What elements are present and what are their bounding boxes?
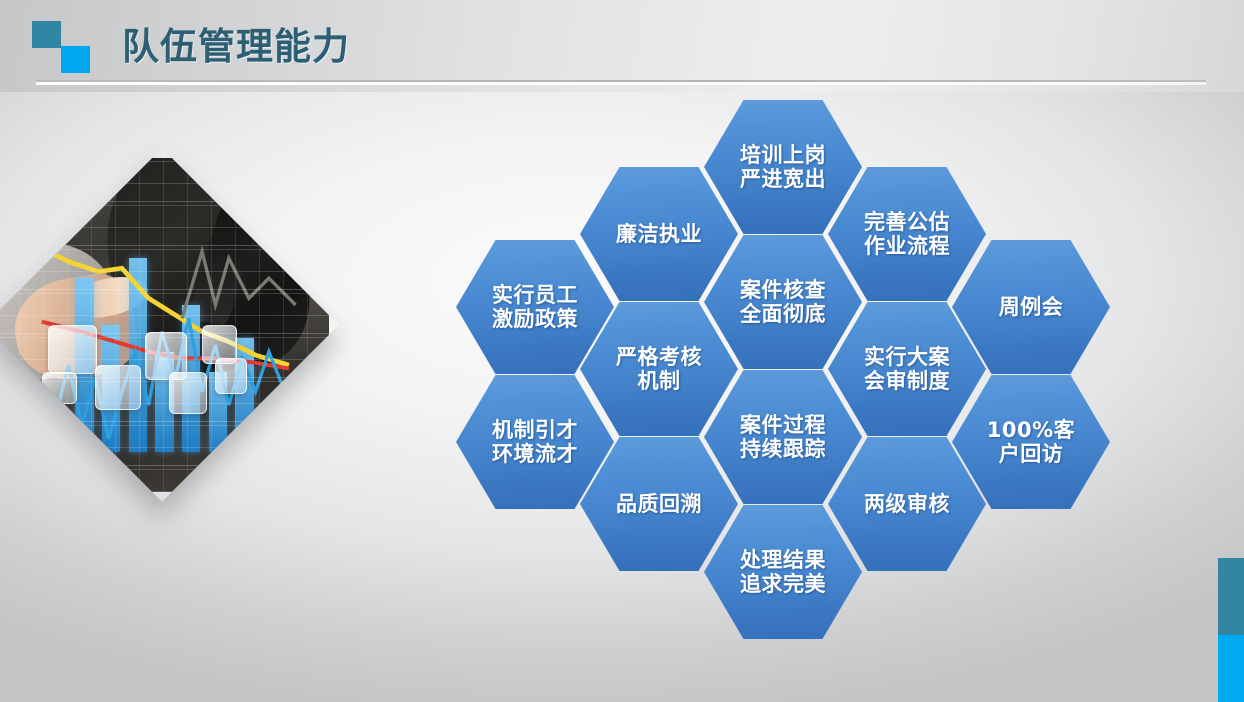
hexagon-label-line2: 户回访 bbox=[987, 442, 1075, 466]
hexagon-label: 处理结果追求完美 bbox=[740, 548, 826, 597]
hexagon-label: 两级审核 bbox=[864, 492, 950, 516]
hexagon-label-line2: 严进宽出 bbox=[740, 167, 826, 191]
hexagon-label: 案件核查全面彻底 bbox=[740, 278, 826, 327]
photo-dashed-overlay bbox=[0, 158, 329, 492]
corner-accent-teal bbox=[1218, 558, 1244, 635]
diamond-photo-content bbox=[0, 158, 329, 492]
hexagon-label-line1: 处理结果 bbox=[740, 548, 826, 572]
hexagon-label-line2: 机制 bbox=[616, 369, 702, 393]
corner-accent-blue bbox=[1218, 635, 1244, 702]
hexagon-label-line1: 实行员工 bbox=[492, 283, 578, 307]
diamond-photo bbox=[0, 148, 339, 502]
hexagon-label-line1: 两级审核 bbox=[864, 492, 950, 516]
hexagon-label: 100%客户回访 bbox=[987, 418, 1075, 467]
page-title: 队伍管理能力 bbox=[122, 16, 350, 70]
hexagon-label-line1: 廉洁执业 bbox=[616, 222, 702, 246]
hexagon-label: 机制引才环境流才 bbox=[492, 418, 578, 467]
hexagon-hex-3[interactable]: 廉洁执业 bbox=[580, 167, 738, 301]
hexagon-label-line1: 培训上岗 bbox=[740, 143, 826, 167]
header-divider bbox=[36, 82, 1206, 85]
hexagon-label-line2: 环境流才 bbox=[492, 442, 578, 466]
hexagon-label: 严格考核机制 bbox=[616, 345, 702, 394]
hexagon-label-line2: 全面彻底 bbox=[740, 302, 826, 326]
hexagon-label-line2: 激励政策 bbox=[492, 307, 578, 331]
hexagon-hex-6[interactable]: 培训上岗严进宽出 bbox=[704, 100, 862, 234]
hexagon-label-line1: 实行大案 bbox=[864, 345, 950, 369]
hexagon-label-line1: 案件核查 bbox=[740, 278, 826, 302]
hexagon-label: 廉洁执业 bbox=[616, 222, 702, 246]
hexagon-label: 实行大案会审制度 bbox=[864, 345, 950, 394]
hexagon-label: 周例会 bbox=[999, 295, 1064, 319]
hexagon-label: 品质回溯 bbox=[616, 492, 702, 516]
hexagon-label-line2: 作业流程 bbox=[864, 234, 950, 258]
hexagon-label-line2: 会审制度 bbox=[864, 369, 950, 393]
hexagon-label-line2: 追求完美 bbox=[740, 572, 826, 596]
hexagon-label-line1: 机制引才 bbox=[492, 418, 578, 442]
hexagon-hex-7[interactable]: 案件核查全面彻底 bbox=[704, 235, 862, 369]
hexagon-hex-9[interactable]: 处理结果追求完美 bbox=[704, 505, 862, 639]
hexagon-label-line1: 完善公估 bbox=[864, 210, 950, 234]
teal-square-icon bbox=[32, 21, 61, 48]
hexagon-label-line1: 周例会 bbox=[999, 295, 1064, 319]
hexagon-label-line1: 严格考核 bbox=[616, 345, 702, 369]
hexagon-label: 培训上岗严进宽出 bbox=[740, 143, 826, 192]
hexagon-label: 完善公估作业流程 bbox=[864, 210, 950, 259]
hexagon-hex-10[interactable]: 完善公估作业流程 bbox=[828, 167, 986, 301]
hexagon-hex-8[interactable]: 案件过程持续跟踪 bbox=[704, 370, 862, 504]
hexagon-label-line1: 品质回溯 bbox=[616, 492, 702, 516]
hexagon-label-line2: 持续跟踪 bbox=[740, 437, 826, 461]
hexagon-label-line1: 案件过程 bbox=[740, 413, 826, 437]
slide-canvas: 队伍管理能力 bbox=[0, 0, 1244, 702]
blue-square-icon bbox=[61, 46, 90, 73]
hexagon-label: 案件过程持续跟踪 bbox=[740, 413, 826, 462]
hexagon-label-line1: 100%客 bbox=[987, 418, 1075, 442]
hexagon-label: 实行员工激励政策 bbox=[492, 283, 578, 332]
